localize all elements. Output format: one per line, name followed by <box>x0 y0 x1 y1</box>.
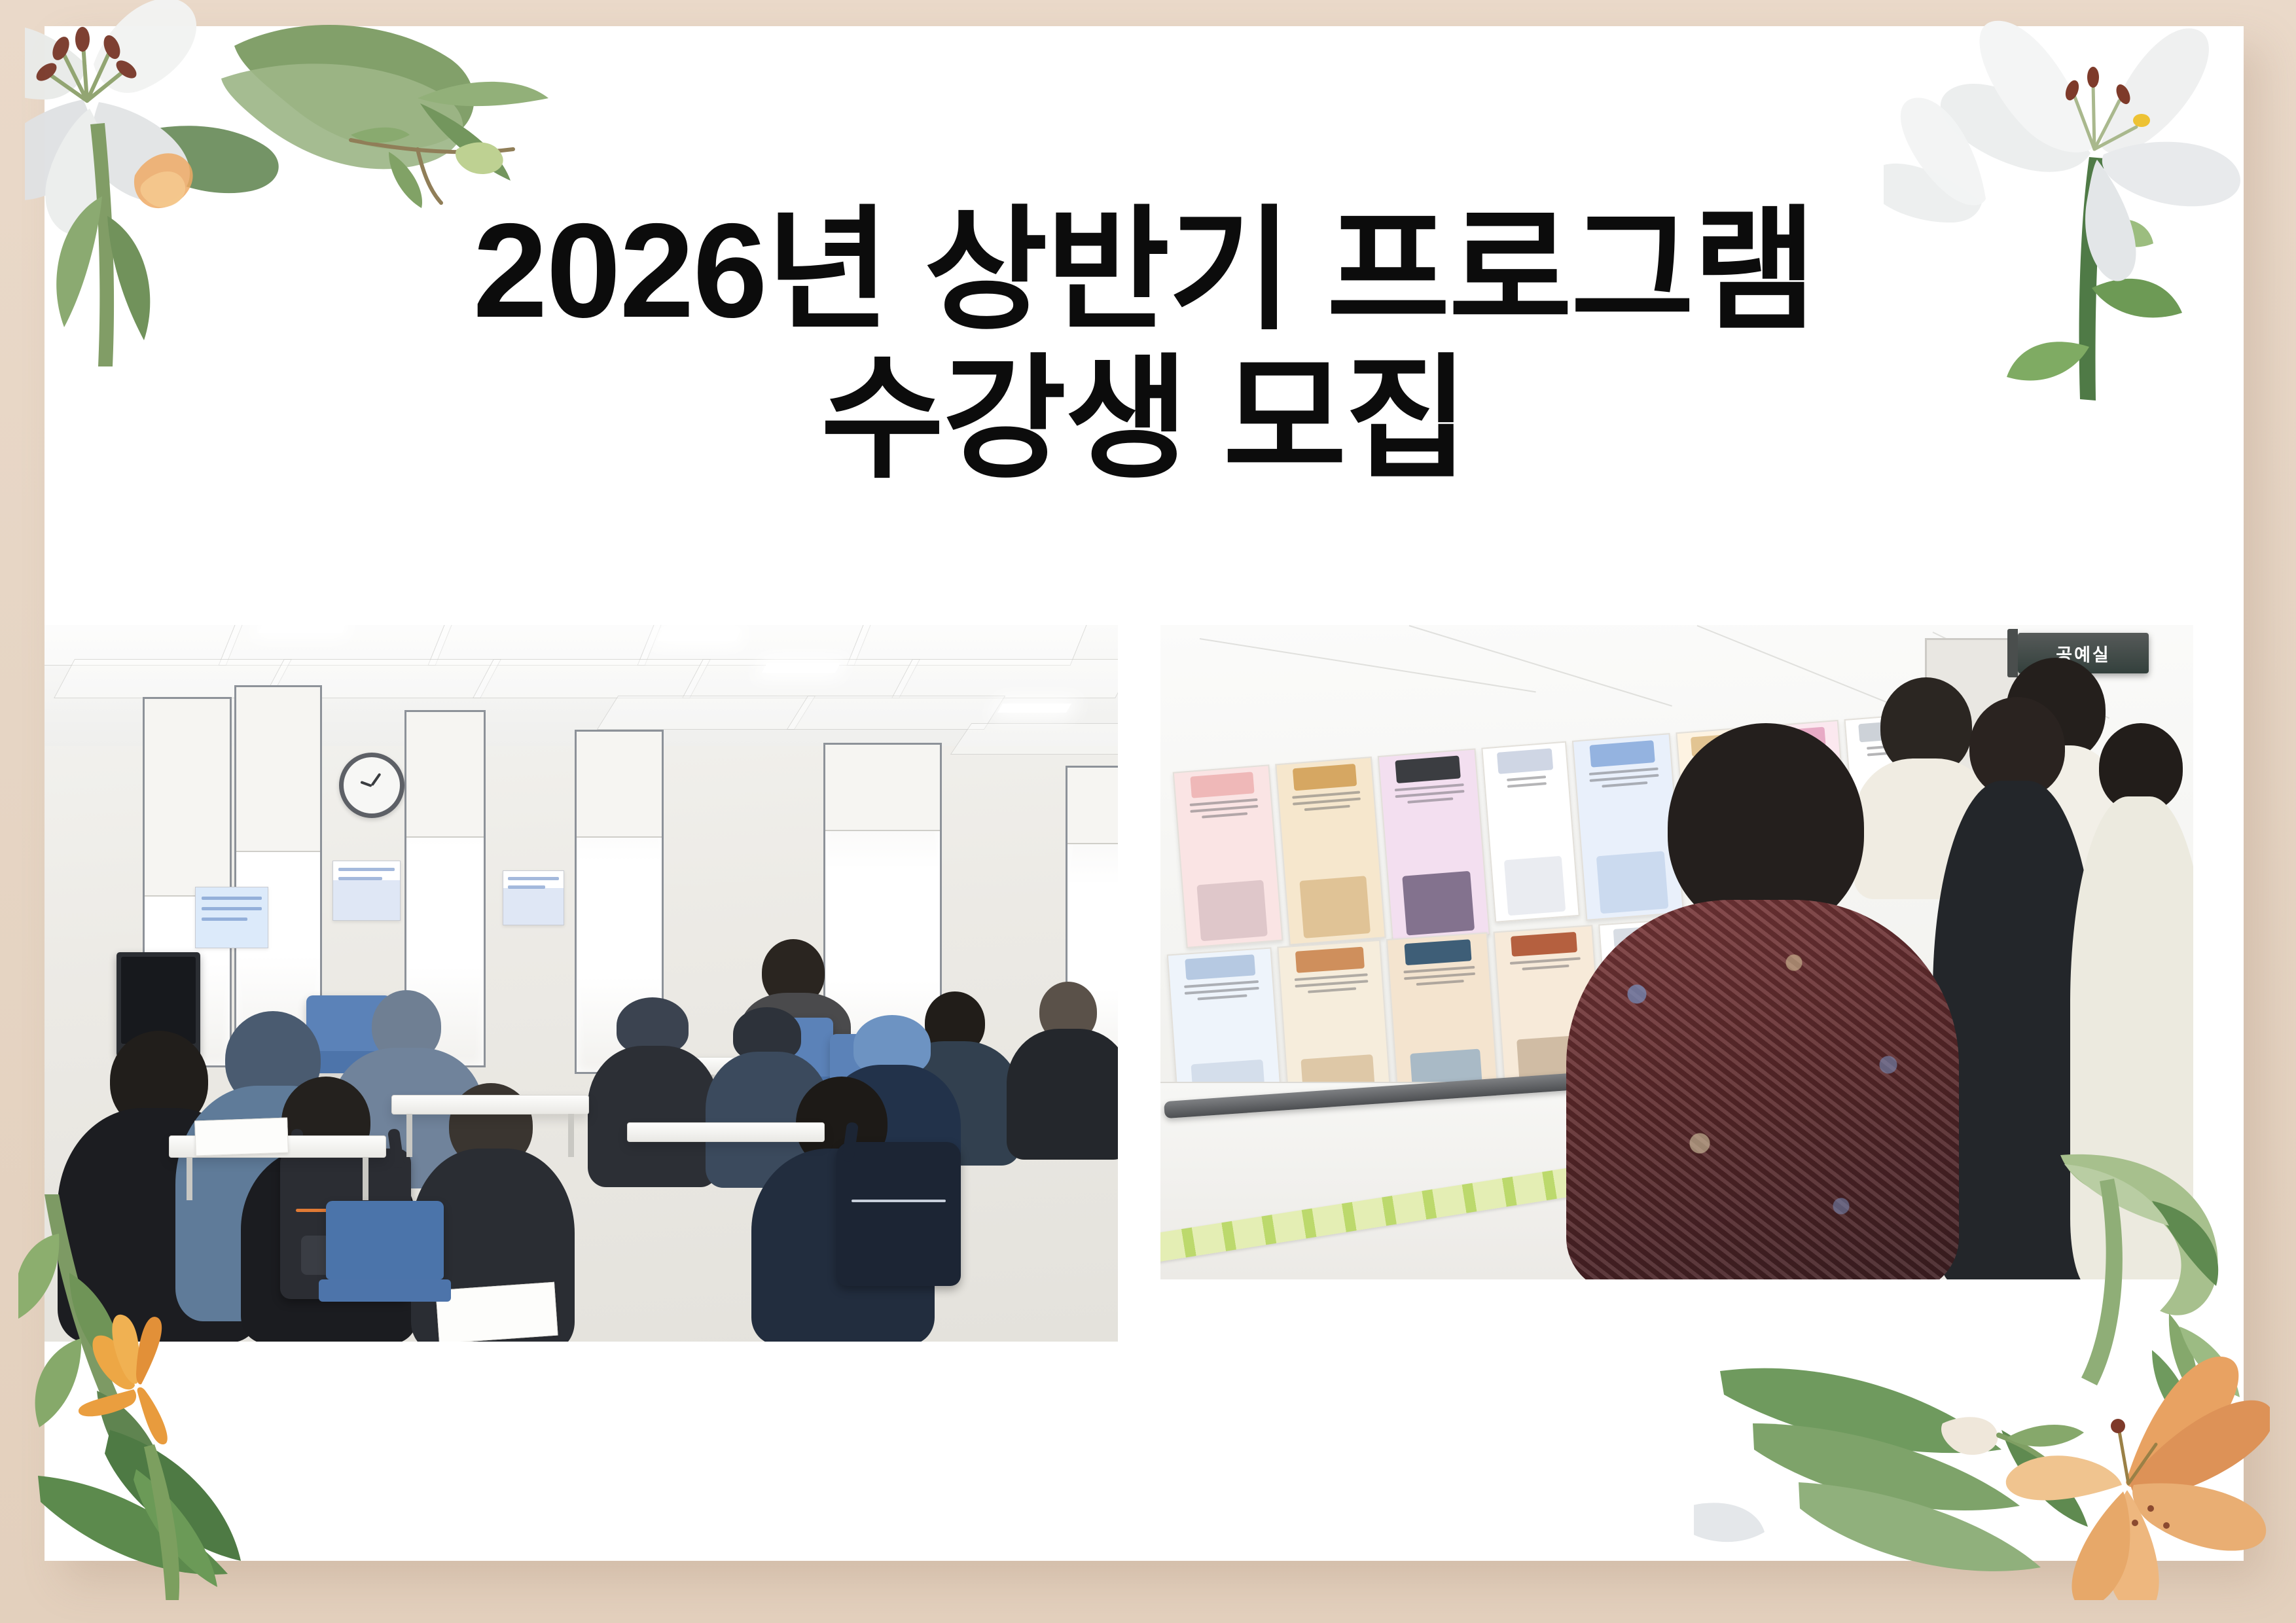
desk <box>627 1122 825 1142</box>
desk <box>391 1095 589 1115</box>
info-poster <box>1378 748 1490 942</box>
ceiling-light <box>762 663 840 673</box>
student <box>1007 982 1118 1158</box>
ceiling-light <box>259 625 346 633</box>
wall-notice <box>332 861 401 921</box>
title-line-1: 2026년 상반기 프로그램 <box>45 200 2244 342</box>
title-line-2: 수강생 모집 <box>45 348 2244 490</box>
page-title: 2026년 상반기 프로그램 수강생 모집 <box>45 200 2244 491</box>
info-poster <box>1275 757 1386 946</box>
wall-notice <box>195 887 268 948</box>
poster-card: 2026년 상반기 프로그램 수강생 모집 <box>45 26 2244 1561</box>
classroom-photo <box>45 625 1118 1342</box>
poster-background: 2026년 상반기 프로그램 수강생 모집 <box>0 0 2296 1623</box>
photo-row: 공예실 <box>45 625 2244 1358</box>
wall-clock <box>339 753 404 818</box>
wall-notice <box>503 870 564 925</box>
visitor <box>2070 723 2193 1279</box>
info-poster <box>1481 741 1580 923</box>
document <box>194 1118 289 1156</box>
document <box>435 1282 558 1342</box>
chair <box>326 1201 444 1279</box>
info-poster <box>1173 764 1283 948</box>
student <box>588 1001 719 1185</box>
ceiling-light <box>997 704 1071 713</box>
exhibition-photo: 공예실 <box>1160 625 2193 1279</box>
backpack <box>836 1142 961 1286</box>
visitor-foreground <box>1566 723 1959 1279</box>
ceiling-light <box>657 630 740 641</box>
